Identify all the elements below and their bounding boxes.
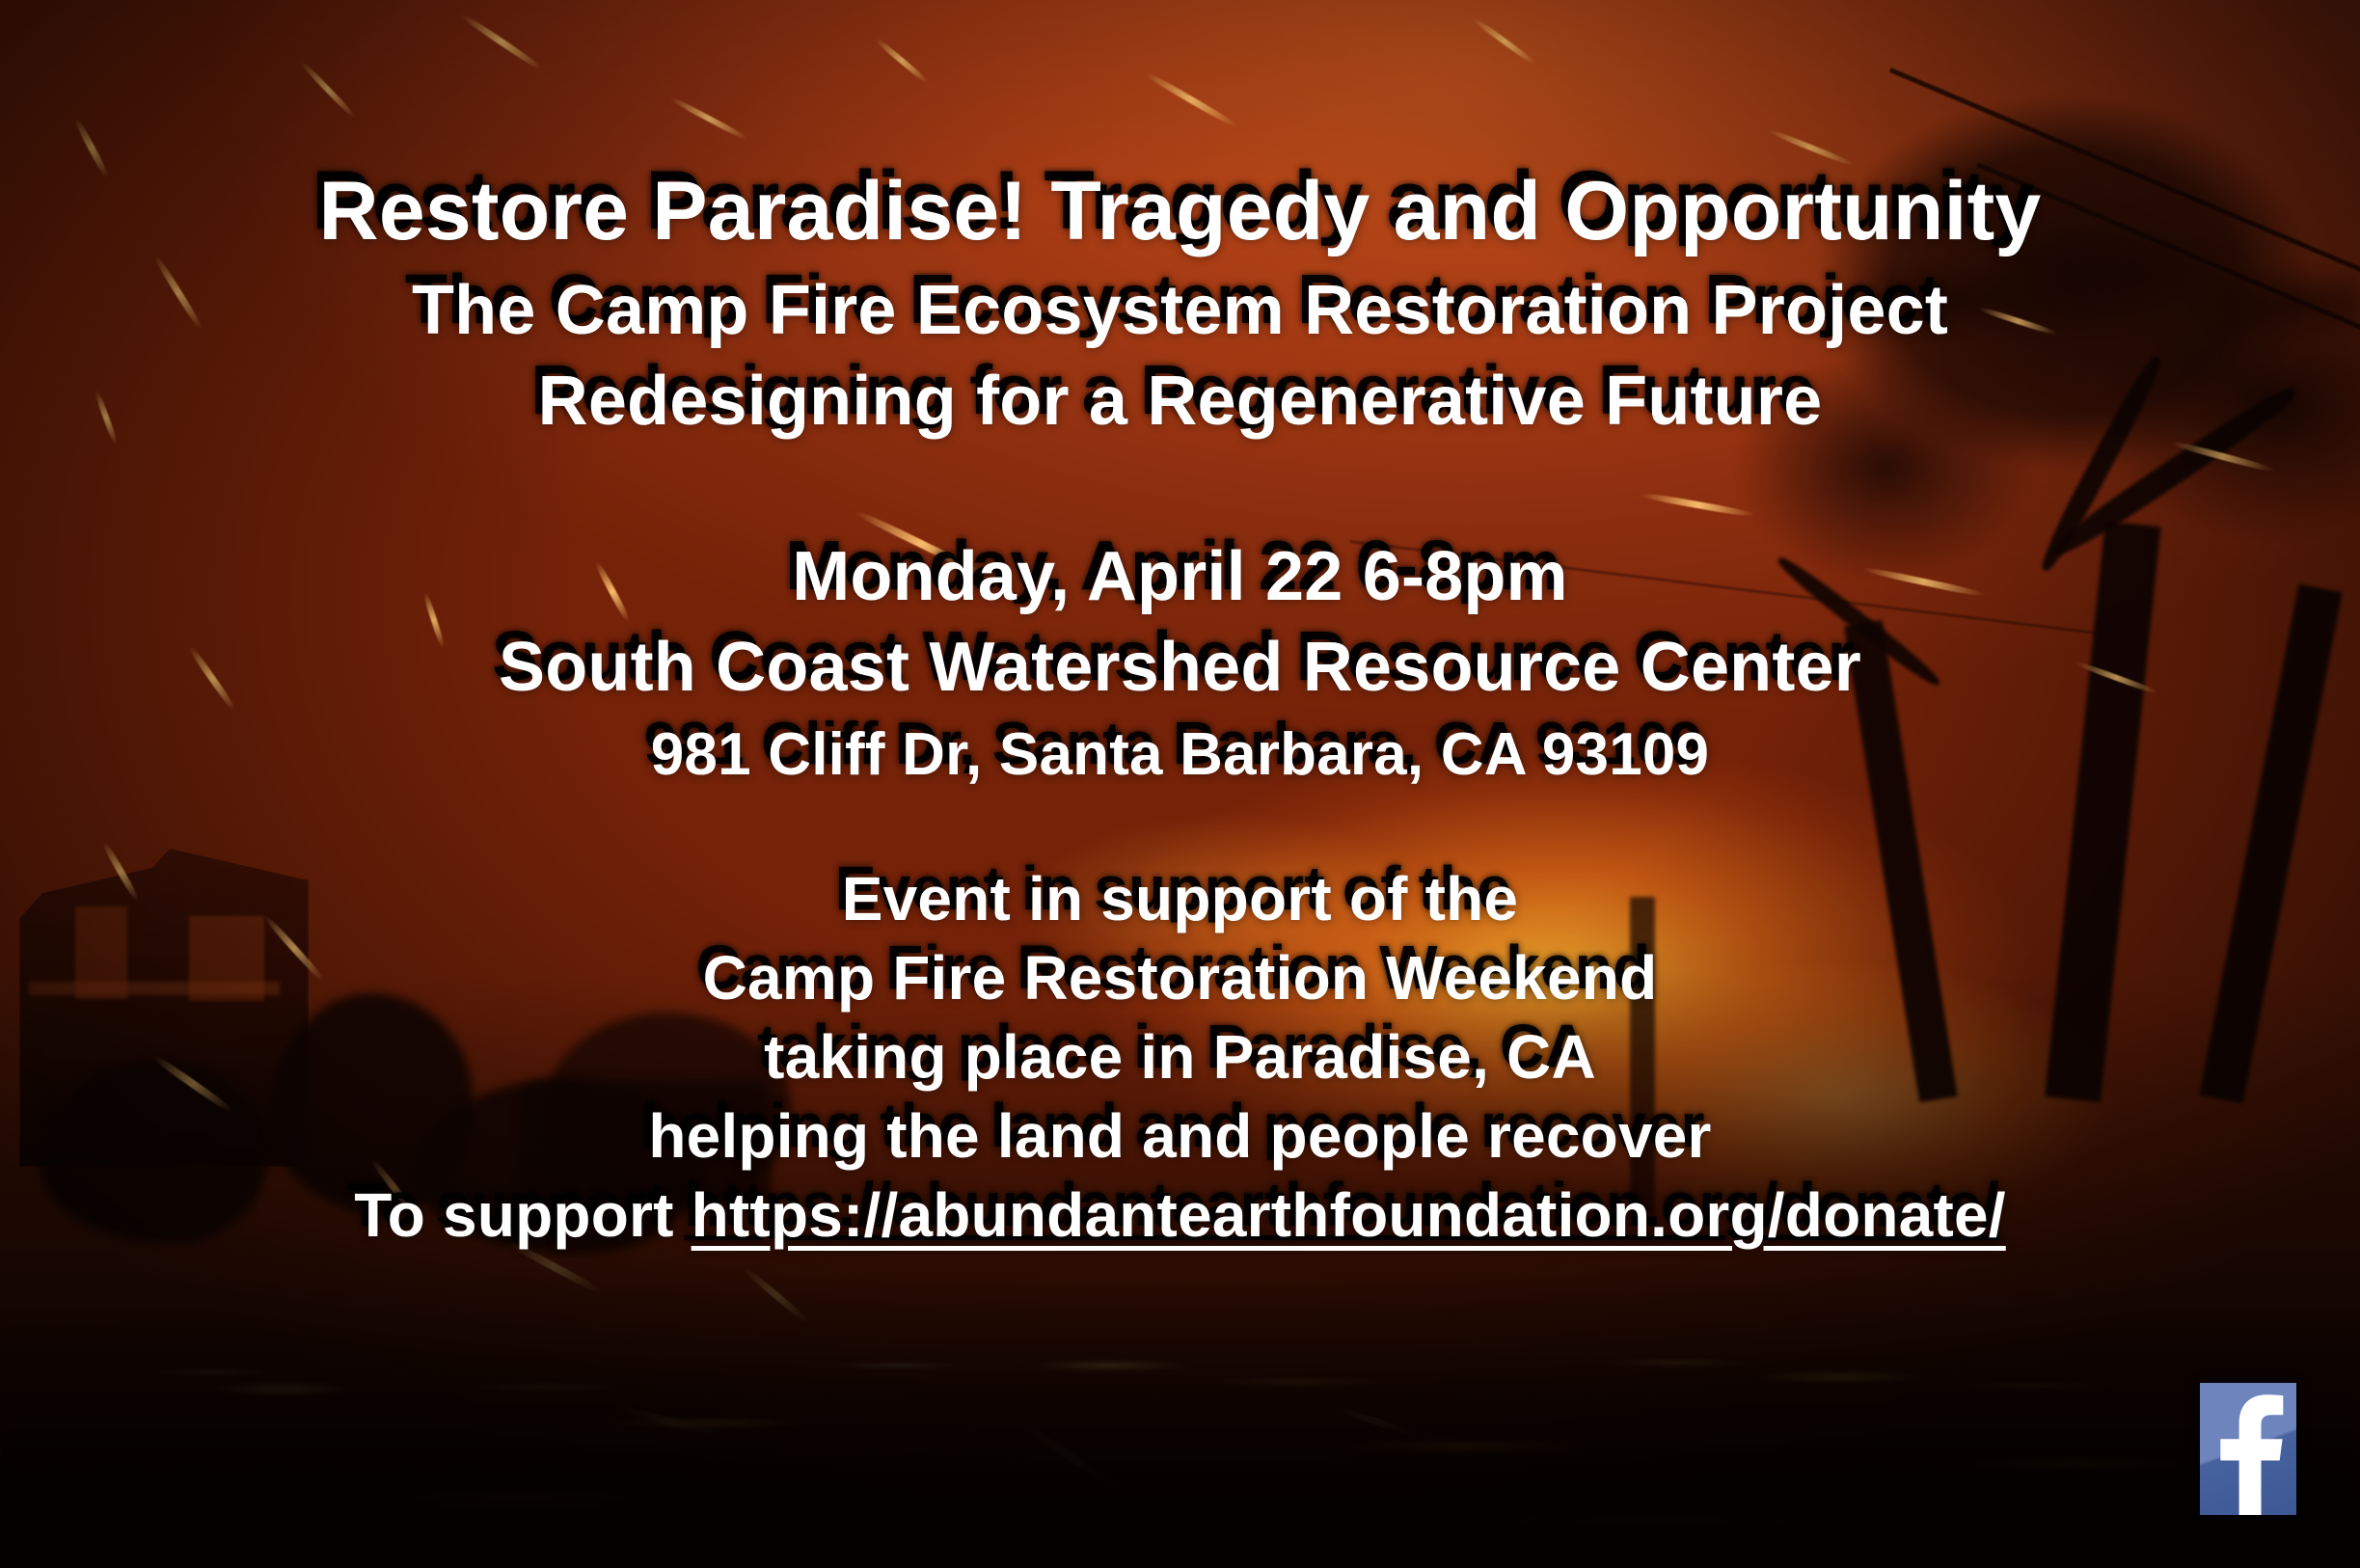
donate-link[interactable]: https://abundantearthfoundation.org/dona… bbox=[692, 1180, 2006, 1250]
event-venue: South Coast Watershed Resource Center bbox=[499, 633, 1861, 702]
event-address: 981 Cliff Dr, Santa Barbara, CA 93109 bbox=[651, 725, 1710, 785]
event-date-time: Monday, April 22 6-8pm bbox=[792, 542, 1568, 611]
donate-cta-row: To support https://abundantearthfoundati… bbox=[354, 1184, 2006, 1246]
tagline: Redesigning for a Regenerative Future bbox=[538, 366, 1823, 436]
support-line-2: Camp Fire Restoration Weekend bbox=[703, 947, 1658, 1009]
support-line-1: Event in support of the bbox=[842, 868, 1518, 930]
support-line-4: helping the land and people recover bbox=[648, 1105, 1711, 1167]
flyer-text-block: Restore Paradise! Tragedy and Opportunit… bbox=[0, 0, 2360, 1568]
project-subtitle: The Camp Fire Ecosystem Restoration Proj… bbox=[412, 276, 1948, 345]
support-line-3: taking place in Paradise, CA bbox=[764, 1026, 1596, 1088]
event-flyer: Restore Paradise! Tragedy and Opportunit… bbox=[0, 0, 2360, 1568]
donate-cta-prefix: To support bbox=[354, 1180, 691, 1250]
facebook-icon[interactable] bbox=[2200, 1383, 2296, 1515]
page-title: Restore Paradise! Tragedy and Opportunit… bbox=[319, 170, 2042, 253]
